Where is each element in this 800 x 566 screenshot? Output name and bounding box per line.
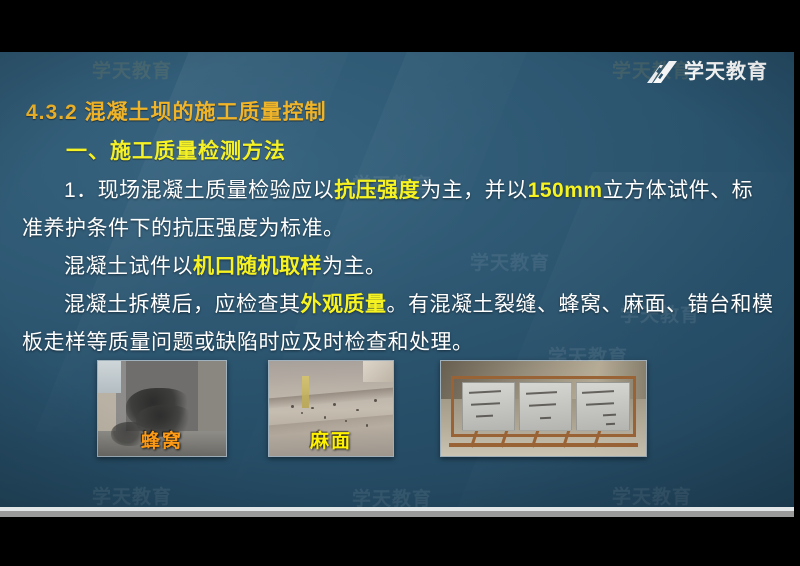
photo-strip: 蜂窝 麻面 bbox=[0, 360, 794, 470]
photo-test-panel bbox=[576, 382, 629, 431]
photo-caption: 麻面 bbox=[269, 426, 393, 453]
photo-handwriting bbox=[582, 391, 614, 395]
photo-stain bbox=[302, 376, 308, 408]
photo-sky-region bbox=[98, 361, 121, 393]
slide-body-text: 1．现场混凝土质量检验应以抗压强度为主，并以150mm立方体试件、标准养护条件下… bbox=[22, 172, 774, 362]
photo-pit bbox=[345, 420, 347, 422]
watermark-text: 学天教育 bbox=[92, 482, 172, 509]
brand-name: 学天教育 bbox=[684, 62, 768, 82]
photo-caption: 蜂窝 bbox=[98, 426, 226, 453]
photo-test-panel bbox=[462, 382, 515, 431]
photo-corner-region bbox=[363, 361, 393, 382]
body-text-run: 混凝土拆模后，应检查其 bbox=[64, 293, 301, 316]
presentation-slide: 学天教育学天教育学天教育学天教育学天教育学天教育学天教育学天教育学天教育 学天教… bbox=[0, 52, 794, 511]
photo-handwriting bbox=[606, 422, 615, 424]
letterbox-right-edge bbox=[794, 0, 800, 566]
photo-pit bbox=[311, 407, 314, 409]
body-paragraph: 混凝土试件以机口随机取样为主。 bbox=[22, 248, 774, 286]
photo-honeycomb-defect: 蜂窝 bbox=[97, 360, 227, 457]
photo-pit bbox=[356, 409, 359, 411]
highlighted-term: 150mm bbox=[528, 179, 603, 202]
photo-handwriting bbox=[476, 415, 494, 418]
photo-handwriting bbox=[469, 391, 501, 395]
body-paragraph: 1．现场混凝土质量检验应以抗压强度为主，并以150mm立方体试件、标准养护条件下… bbox=[22, 172, 774, 248]
body-text-run: 1．现场混凝土质量检验应以 bbox=[64, 179, 334, 202]
road-stripes-icon bbox=[647, 60, 677, 84]
body-text-run: 混凝土试件以 bbox=[64, 255, 193, 278]
photo-handwriting bbox=[526, 392, 557, 396]
photo-handwriting bbox=[540, 417, 551, 420]
photo-pit bbox=[324, 416, 326, 419]
body-paragraph: 混凝土拆模后，应检查其外观质量。有混凝土裂缝、蜂窝、麻面、错台和模板走样等质量问… bbox=[22, 286, 774, 362]
video-player-frame: 学天教育学天教育学天教育学天教育学天教育学天教育学天教育学天教育学天教育 学天教… bbox=[0, 0, 800, 566]
brand-logo: 学天教育 bbox=[647, 60, 768, 84]
highlighted-term: 抗压强度 bbox=[334, 179, 420, 202]
photo-pitted-surface-defect: 麻面 bbox=[268, 360, 394, 457]
highlighted-term: 机口随机取样 bbox=[193, 255, 322, 278]
player-gray-bar bbox=[0, 511, 794, 517]
watermark-text: 学天教育 bbox=[92, 56, 172, 83]
photo-handwriting bbox=[603, 414, 616, 417]
body-text-run: 为主。 bbox=[322, 255, 387, 278]
photo-test-panel bbox=[519, 382, 572, 431]
photo-rebar-rail bbox=[449, 443, 638, 447]
watermark-text: 学天教育 bbox=[612, 482, 692, 509]
photo-concrete-test-panels bbox=[440, 360, 647, 457]
page-title: 4.3.2 混凝土坝的施工质量控制 bbox=[26, 96, 327, 126]
photo-handwriting bbox=[471, 402, 500, 406]
body-text-run: 为主，并以 bbox=[420, 179, 528, 202]
photo-handwriting bbox=[529, 403, 556, 406]
section-heading: 一、施工质量检测方法 bbox=[66, 135, 286, 165]
highlighted-term: 外观质量 bbox=[301, 293, 387, 316]
photo-handwriting bbox=[585, 402, 613, 405]
